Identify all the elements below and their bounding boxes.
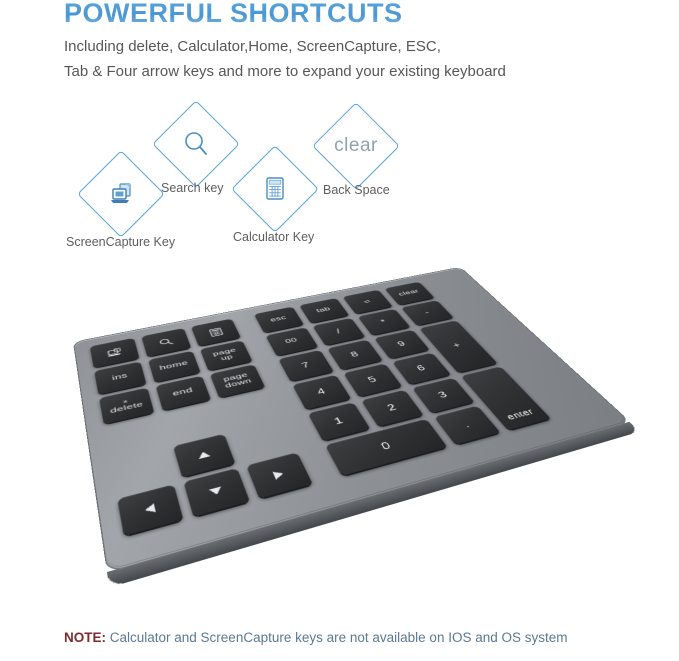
- arrow-down-icon: [209, 487, 223, 497]
- arrow-right-icon: [273, 470, 285, 480]
- keypad-body: esc tab = clear ins home page up 00 / * …: [73, 267, 631, 573]
- arrow-down-key[interactable]: [183, 468, 249, 517]
- home-key[interactable]: home: [148, 351, 200, 383]
- delete-label: delete: [110, 401, 144, 415]
- enter-key[interactable]: enter: [461, 366, 551, 430]
- page-title: POWERFUL SHORTCUTS: [64, 0, 403, 29]
- page-up-line-2: up: [220, 354, 234, 362]
- delete-key[interactable]: x delete: [99, 387, 154, 424]
- four-key[interactable]: 4: [292, 375, 351, 410]
- arrow-up-key[interactable]: [173, 434, 235, 477]
- period-key[interactable]: .: [434, 405, 500, 444]
- callout-label: Back Space: [323, 183, 390, 197]
- arrow-left-key[interactable]: [117, 484, 183, 535]
- arrow-up-icon: [197, 450, 210, 459]
- page-up-key[interactable]: page up: [200, 340, 253, 370]
- diamond-frame: [152, 100, 240, 188]
- page-down-key[interactable]: page down: [210, 364, 265, 397]
- divide-key[interactable]: /: [312, 318, 365, 346]
- arrow-left-icon: [144, 503, 156, 514]
- subtitle-line-2: Tab & Four arrow keys and more to expand…: [64, 63, 506, 80]
- footer-note: NOTE: Calculator and ScreenCapture keys …: [64, 630, 568, 645]
- subtitle-line-1: Including delete, Calculator,Home, Scree…: [64, 38, 441, 55]
- magnifier-icon: [157, 337, 175, 348]
- screen-capture-icon: [105, 347, 124, 359]
- six-key[interactable]: 6: [392, 353, 451, 385]
- callout-label: Search key: [161, 181, 224, 195]
- three-key[interactable]: 3: [412, 378, 474, 413]
- nine-key[interactable]: 9: [374, 330, 429, 359]
- zero-key[interactable]: 0: [325, 419, 447, 476]
- multiply-key[interactable]: *: [358, 309, 411, 335]
- five-key[interactable]: 5: [343, 363, 402, 396]
- page-down-line-2: down: [224, 378, 253, 390]
- calculator-icon: [207, 327, 224, 338]
- keypad-device: esc tab = clear ins home page up 00 / * …: [73, 267, 631, 573]
- arrow-right-key[interactable]: [246, 452, 312, 498]
- keypad-scene: esc tab = clear ins home page up 00 / * …: [0, 196, 679, 616]
- note-prefix: NOTE:: [64, 630, 106, 645]
- diamond-frame: [312, 102, 400, 190]
- end-key[interactable]: end: [156, 376, 211, 411]
- note-text: Calculator and ScreenCapture keys are no…: [106, 630, 568, 645]
